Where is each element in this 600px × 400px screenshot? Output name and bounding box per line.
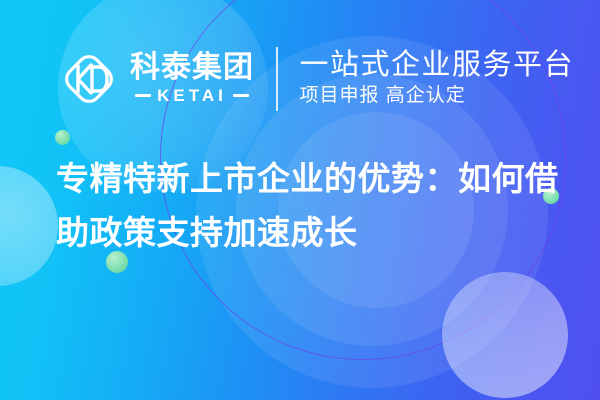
header-divider [276,47,278,111]
tagline-secondary: 项目申报 高企认定 [300,84,575,109]
left-accent-circle [0,166,58,286]
ketai-monogram-icon [58,48,120,110]
brand-name-cn: 科泰集团 [130,52,254,83]
tagline-block: 一站式企业服务平台 项目申报 高企认定 [300,49,575,109]
headline-block: 专精特新上市企业的优势：如何借 助政策支持加速成长 [56,152,576,260]
wordmark-rule-right [233,94,249,97]
wordmark-rule-left [135,94,151,97]
bottom-right-circle [442,272,568,398]
tagline-primary: 一站式企业服务平台 [300,49,575,81]
brand-header: 科泰集团 KETAI 一站式企业服务平台 项目申报 高企认定 [0,40,600,118]
headline-line-2: 助政策支持加速成长 [56,206,576,260]
brand-wordmark: 科泰集团 KETAI [130,52,254,105]
headline-line-1: 专精特新上市企业的优势：如何借 [56,152,576,206]
brand-name-en-row: KETAI [135,86,249,106]
promo-banner: 科泰集团 KETAI 一站式企业服务平台 项目申报 高企认定 专精特新上市企业的… [0,0,600,400]
green-dot-upper-left [55,130,70,145]
brand-name-en: KETAI [157,86,227,106]
